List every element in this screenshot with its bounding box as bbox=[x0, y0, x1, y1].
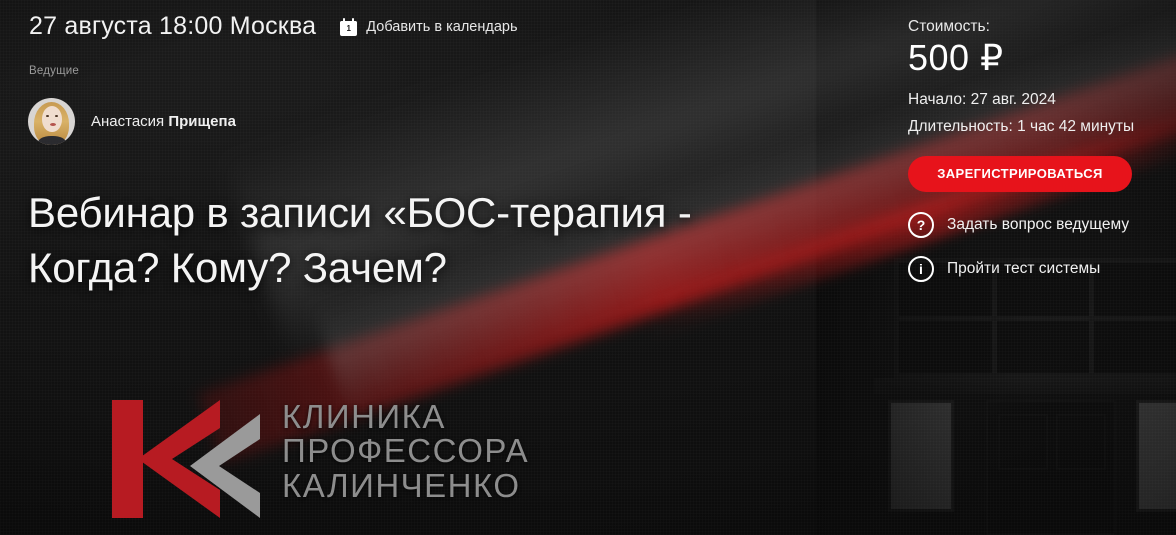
cost-label: Стоимость: bbox=[908, 18, 1148, 36]
start-date: Начало: 27 авг. 2024 bbox=[908, 91, 1148, 109]
clinic-logo: КЛИНИКА ПРОФЕССОРА КАЛИНЧЕНКО bbox=[112, 396, 529, 522]
avatar bbox=[28, 98, 75, 145]
host-last-name: Прищепа bbox=[168, 113, 236, 130]
system-test-label: Пройти тест системы bbox=[947, 260, 1100, 278]
question-mark-icon: ? bbox=[908, 212, 934, 238]
page-title: Вебинар в записи «БОС-терапия - Когда? К… bbox=[28, 186, 818, 295]
ask-question-label: Задать вопрос ведущему bbox=[947, 216, 1129, 234]
info-icon: i bbox=[908, 256, 934, 282]
event-datetime: 27 августа 18:00 Москва bbox=[29, 12, 316, 41]
info-panel: Стоимость: 500 ₽ Начало: 27 авг. 2024 Дл… bbox=[890, 0, 1176, 535]
webinar-hero-banner: 27 августа 18:00 Москва 1 Добавить в кал… bbox=[0, 0, 1176, 535]
host-row[interactable]: Анастасия Прищепа bbox=[28, 98, 236, 145]
price-value: 500 ₽ bbox=[908, 38, 1148, 78]
add-to-calendar-button[interactable]: 1 Добавить в календарь bbox=[340, 18, 517, 36]
ask-question-link[interactable]: ? Задать вопрос ведущему bbox=[908, 212, 1148, 238]
hero-content: 27 августа 18:00 Москва 1 Добавить в кал… bbox=[0, 0, 1176, 535]
host-first-name: Анастасия bbox=[91, 113, 164, 130]
logo-line-1: КЛИНИКА bbox=[282, 400, 529, 434]
logo-line-2: ПРОФЕССОРА bbox=[282, 434, 529, 468]
logo-line-3: КАЛИНЧЕНКО bbox=[282, 469, 529, 503]
hosts-label: Ведущие bbox=[29, 65, 79, 77]
register-button[interactable]: ЗАРЕГИСТРИРОВАТЬСЯ bbox=[908, 156, 1132, 192]
host-name: Анастасия Прищепа bbox=[91, 113, 236, 130]
system-test-link[interactable]: i Пройти тест системы bbox=[908, 256, 1148, 282]
add-to-calendar-label: Добавить в календарь bbox=[366, 19, 517, 35]
date-bar: 27 августа 18:00 Москва 1 Добавить в кал… bbox=[29, 12, 518, 41]
calendar-icon: 1 bbox=[340, 18, 357, 36]
duration: Длительность: 1 час 42 минуты bbox=[908, 118, 1148, 136]
clinic-logo-text: КЛИНИКА ПРОФЕССОРА КАЛИНЧЕНКО bbox=[282, 396, 529, 503]
kk-logo-icon bbox=[112, 396, 260, 522]
calendar-icon-day: 1 bbox=[340, 25, 357, 33]
